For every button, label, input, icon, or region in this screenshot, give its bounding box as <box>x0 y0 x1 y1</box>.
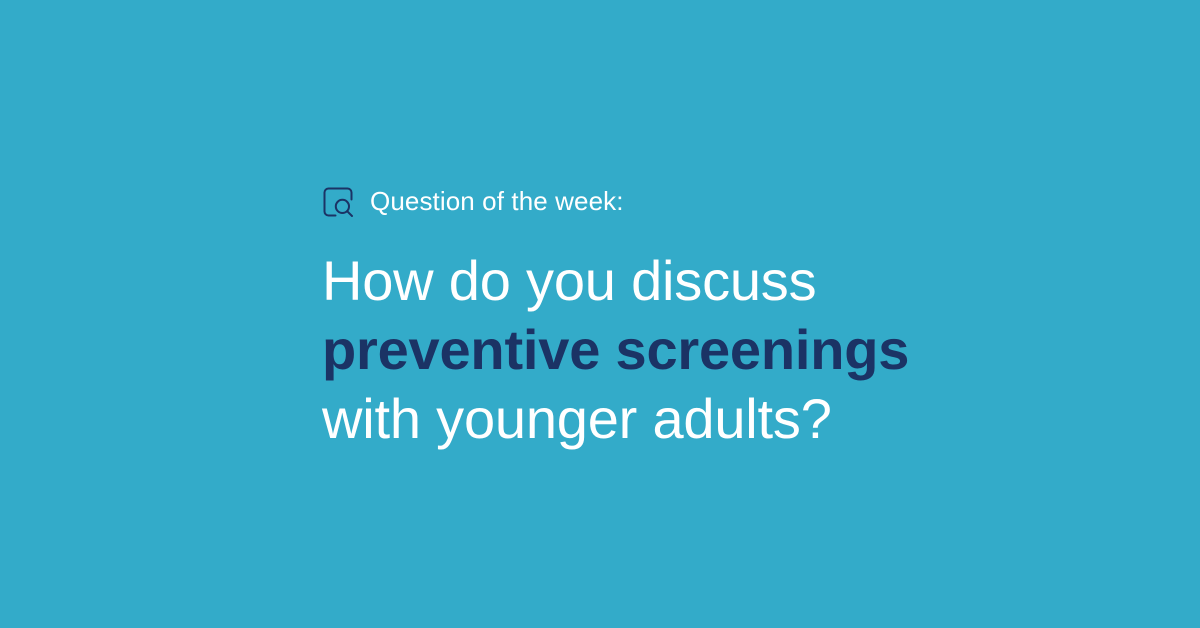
headline: How do you discuss preventive screenings… <box>322 246 1082 453</box>
eyebrow-label: Question of the week: <box>370 185 624 217</box>
eyebrow-row: Question of the week: <box>322 178 1082 224</box>
search-document-icon <box>322 186 354 218</box>
headline-line-1: How do you discuss <box>322 246 1082 315</box>
content-block: Question of the week: How do you discuss… <box>322 178 1082 453</box>
promo-card: Question of the week: How do you discuss… <box>0 0 1200 628</box>
headline-line-2-emphasis: preventive screenings <box>322 315 1082 384</box>
headline-line-3: with younger adults? <box>322 384 1082 453</box>
